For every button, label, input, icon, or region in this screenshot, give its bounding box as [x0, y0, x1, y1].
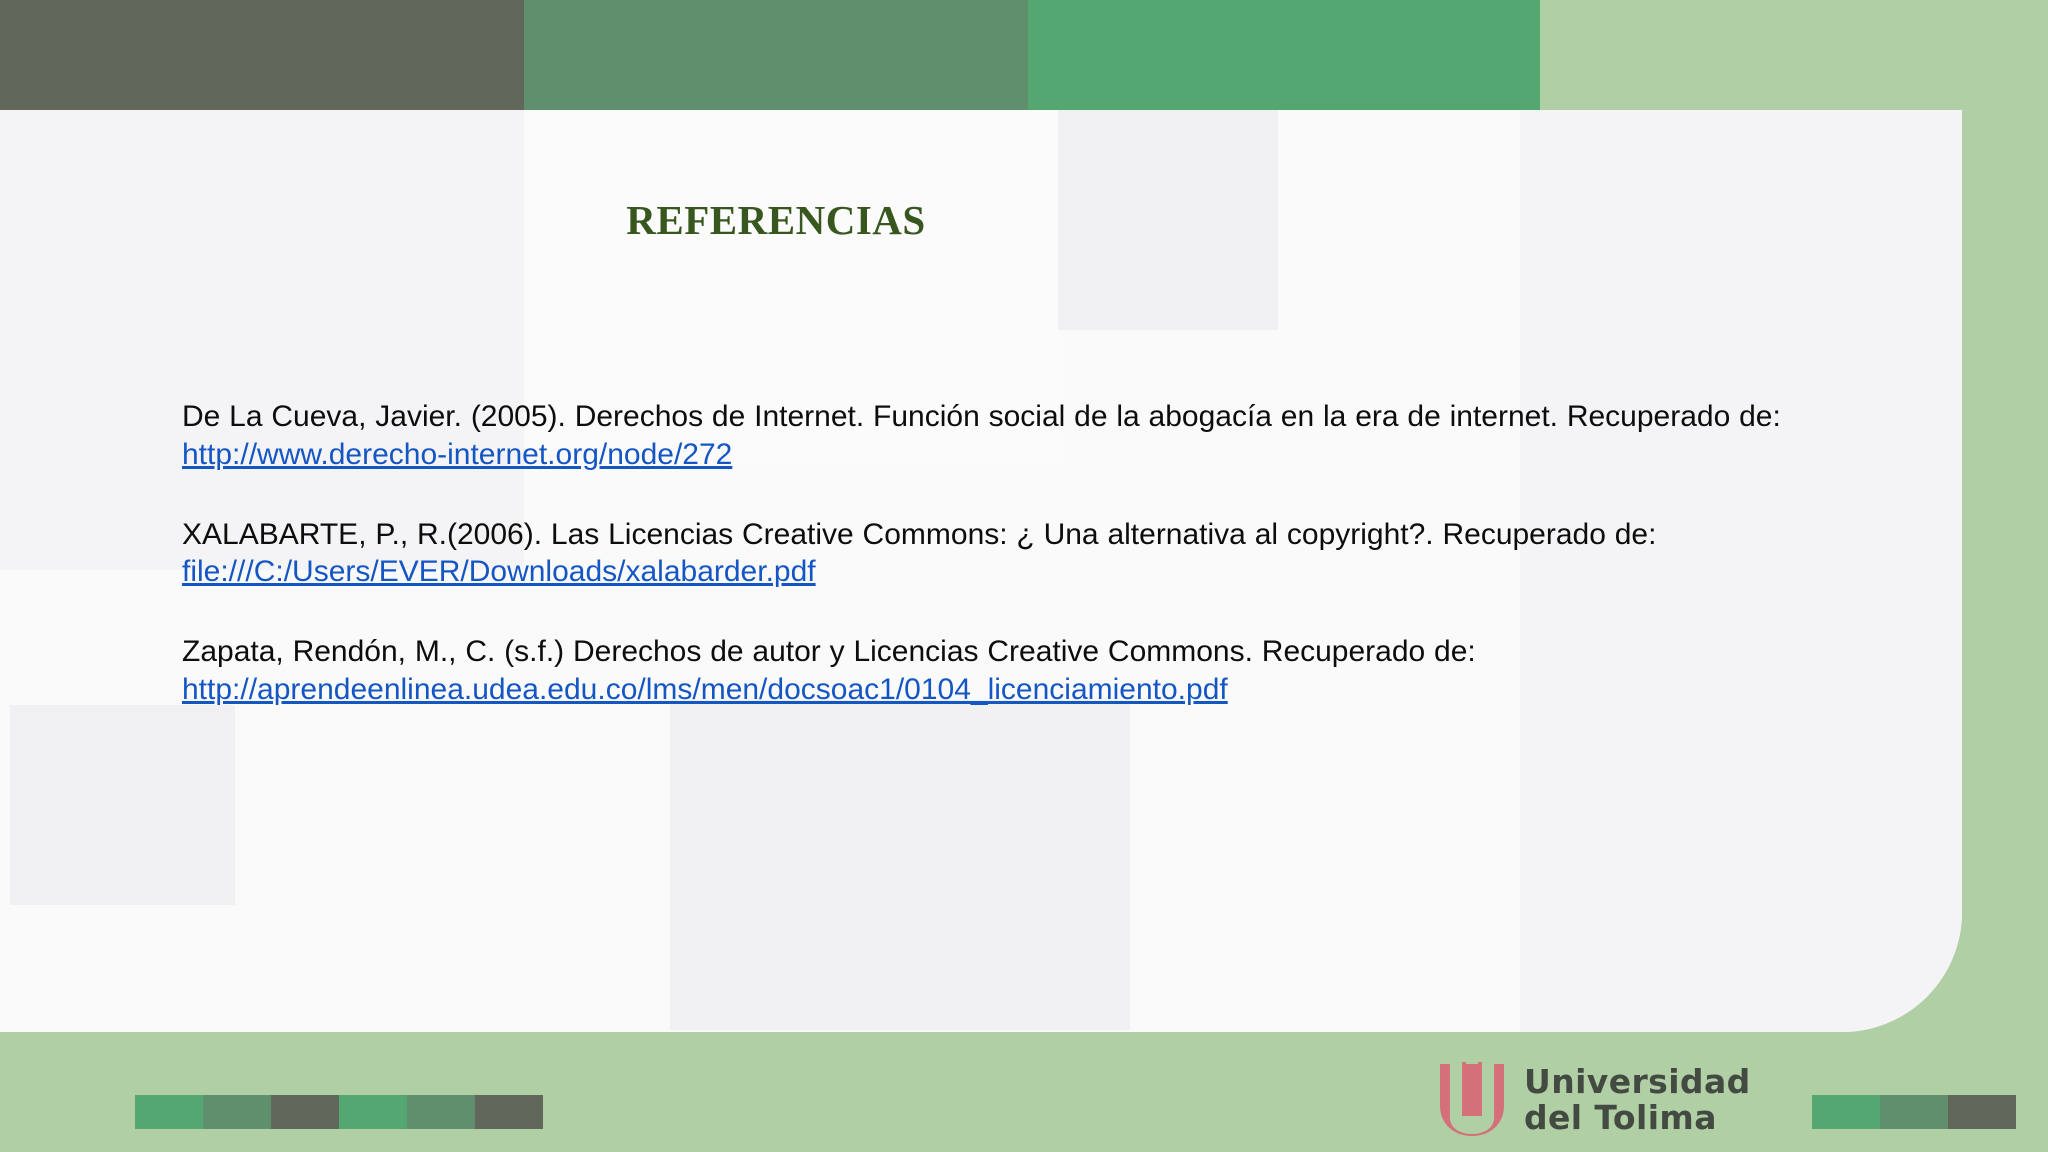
reference-link[interactable]: file:///C:/Users/EVER/Downloads/xalabard…: [182, 555, 816, 588]
reference-text: XALABARTE, P., R.(2006). Las Licencias C…: [182, 518, 1656, 551]
decorative-rectangle-bottommid: [670, 700, 1130, 1030]
color-swatch: [271, 1095, 339, 1129]
university-logo: Universidad del Tolima: [1438, 1062, 1751, 1138]
color-swatch: [135, 1095, 203, 1129]
decorative-rectangle-bottomleft: [10, 705, 235, 905]
reference-link[interactable]: http://aprendeenlinea.udea.edu.co/lms/me…: [182, 673, 1228, 706]
page-title: REFERENCIAS: [0, 196, 1552, 244]
reference-item: De La Cueva, Javier. (2005). Derechos de…: [182, 398, 1822, 474]
color-swatch: [203, 1095, 271, 1129]
reference-link[interactable]: http://www.derecho-internet.org/node/272: [182, 438, 732, 471]
header-band-mid: [524, 0, 1028, 110]
references-list: De La Cueva, Javier. (2005). Derechos de…: [182, 368, 1822, 709]
header-band-green: [1028, 0, 1540, 110]
color-swatch: [1880, 1095, 1948, 1129]
reference-item: XALABARTE, P., R.(2006). Las Licencias C…: [182, 516, 1822, 592]
reference-text: De La Cueva, Javier. (2005). Derechos de…: [182, 400, 1781, 433]
university-logo-text: Universidad del Tolima: [1524, 1064, 1751, 1135]
reference-text: Zapata, Rendón, M., C. (s.f.) Derechos d…: [182, 635, 1476, 668]
logo-line-1: Universidad: [1524, 1064, 1751, 1100]
logo-line-2: del Tolima: [1524, 1100, 1751, 1136]
shield-u-icon: [1438, 1062, 1506, 1138]
color-swatch: [475, 1095, 543, 1129]
color-swatch: [1948, 1095, 2016, 1129]
footer-swatches-right: [1812, 1095, 2016, 1129]
color-swatch: [339, 1095, 407, 1129]
reference-item: Zapata, Rendón, M., C. (s.f.) Derechos d…: [182, 633, 1822, 709]
header-band-dark: [0, 0, 524, 110]
color-swatch: [407, 1095, 475, 1129]
footer-swatches-left: [135, 1095, 543, 1129]
color-swatch: [1812, 1095, 1880, 1129]
slide-canvas: REFERENCIAS De La Cueva, Javier. (2005).…: [0, 0, 2048, 1152]
